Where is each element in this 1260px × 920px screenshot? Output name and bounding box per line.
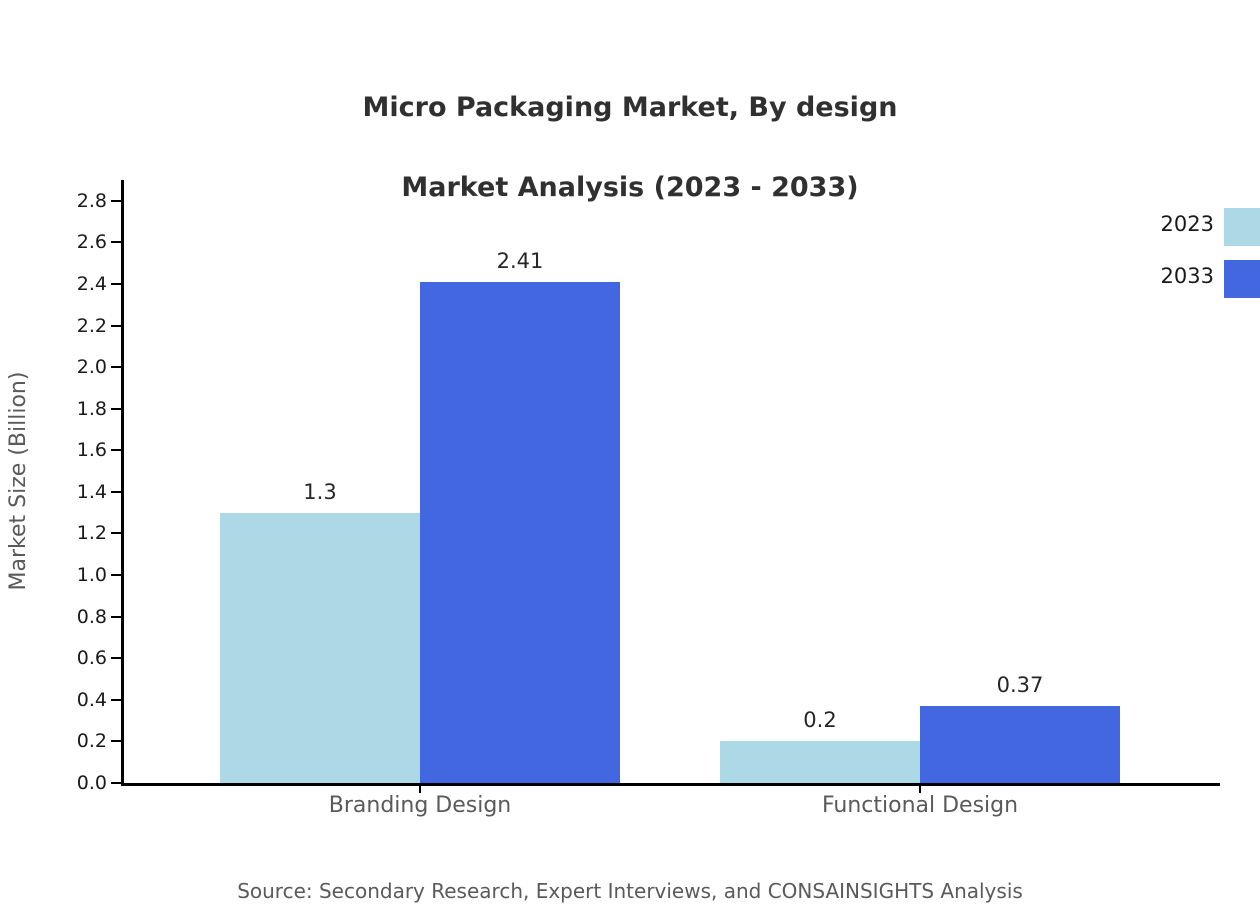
source-note: Source: Secondary Research, Expert Inter… xyxy=(0,878,1260,904)
y-axis-tick-label: 1.0 xyxy=(77,566,107,585)
y-axis-tick xyxy=(111,574,121,576)
bar-2033-branding-design[interactable] xyxy=(420,282,620,783)
y-axis-tick xyxy=(111,241,121,243)
y-axis-tick xyxy=(111,657,121,659)
x-axis-spine xyxy=(121,783,1220,786)
y-axis-tick xyxy=(111,283,121,285)
y-axis-tick-label: 1.4 xyxy=(77,483,107,502)
legend-item-2033[interactable]: 2033 xyxy=(1110,264,1260,304)
legend-swatch xyxy=(1224,260,1260,298)
x-axis-tick-label: Branding Design xyxy=(329,793,512,819)
x-axis-tick xyxy=(419,783,421,793)
y-axis-tick xyxy=(111,782,121,784)
y-axis-tick xyxy=(111,616,121,618)
legend-label: 2033 xyxy=(1110,266,1214,287)
y-axis-tick-label: 1.8 xyxy=(77,400,107,419)
chart-figure: Micro Packaging Market, By design Market… xyxy=(0,0,1260,920)
x-axis-tick-label: Functional Design xyxy=(822,793,1018,819)
bar-value-label: 2.41 xyxy=(497,251,544,272)
chart-title-line-1: Micro Packaging Market, By design xyxy=(363,92,898,123)
legend-swatch xyxy=(1224,208,1260,246)
plot-area: Market Size (Billion) 0.00.20.40.60.81.0… xyxy=(121,180,1220,783)
chart-legend: 20232033 xyxy=(1110,212,1260,312)
bar-value-label: 0.37 xyxy=(997,675,1044,696)
legend-item-2023[interactable]: 2023 xyxy=(1110,212,1260,252)
y-axis-tick-label: 2.8 xyxy=(77,192,107,211)
y-axis-tick xyxy=(111,408,121,410)
y-axis-tick xyxy=(111,449,121,451)
bar-value-label: 1.3 xyxy=(303,482,336,503)
y-axis-label: Market Size (Billion) xyxy=(8,372,30,591)
legend-label: 2023 xyxy=(1110,214,1214,235)
y-axis-tick xyxy=(111,366,121,368)
y-axis-tick xyxy=(111,532,121,534)
y-axis-tick-label: 0.4 xyxy=(77,691,107,710)
bar-2033-functional-design[interactable] xyxy=(920,706,1120,783)
y-axis-tick xyxy=(111,491,121,493)
bar-2023-branding-design[interactable] xyxy=(220,513,420,783)
y-axis-tick-label: 2.6 xyxy=(77,233,107,252)
y-axis-tick xyxy=(111,200,121,202)
y-axis-tick xyxy=(111,699,121,701)
y-axis-tick-label: 0.2 xyxy=(77,732,107,751)
bar-value-label: 0.2 xyxy=(803,710,836,731)
y-axis-tick-label: 1.6 xyxy=(77,441,107,460)
bar-2023-functional-design[interactable] xyxy=(720,741,920,783)
y-axis-tick xyxy=(111,740,121,742)
x-axis-tick xyxy=(919,783,921,793)
y-axis-tick-label: 1.2 xyxy=(77,524,107,543)
y-axis-tick-label: 0.6 xyxy=(77,649,107,668)
y-axis-tick-label: 2.2 xyxy=(77,317,107,336)
y-axis-tick xyxy=(111,325,121,327)
y-axis-tick-label: 0.0 xyxy=(77,774,107,793)
y-axis-spine xyxy=(121,180,124,783)
y-axis-tick-label: 2.0 xyxy=(77,358,107,377)
y-axis-tick-label: 0.8 xyxy=(77,608,107,627)
y-axis-tick-label: 2.4 xyxy=(77,275,107,294)
